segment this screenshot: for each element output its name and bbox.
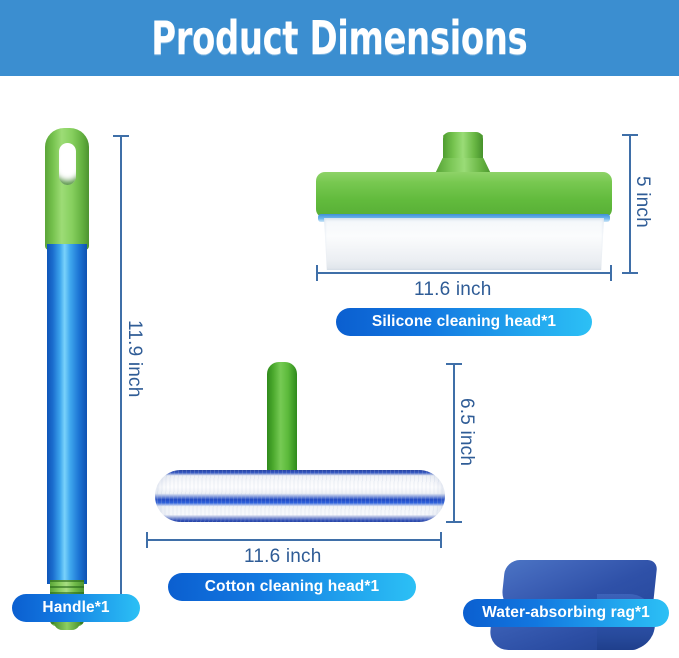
silicone-width-dimension-line [316, 272, 612, 274]
silicone-height-dimension-label: 5 inch [631, 176, 653, 228]
label-pill-silicone-cleaning-head: Silicone cleaning head*1 [336, 308, 592, 336]
handle-green-cap [45, 128, 89, 250]
handle-hanging-hole [59, 143, 76, 185]
label-pill-cotton-cleaning-head: Cotton cleaning head*1 [168, 573, 416, 601]
silicone-width-dimension-label: 11.6 inch [414, 279, 492, 301]
cotton-width-dimension-label: 11.6 inch [244, 546, 322, 568]
page-title: Product Dimensions [151, 15, 527, 61]
header-banner: Product Dimensions [0, 0, 679, 76]
label-pill-water-absorbing-rag: Water-absorbing rag*1 [463, 599, 669, 627]
product-handle-illustration [44, 128, 90, 628]
silicone-green-body [316, 172, 612, 218]
silicone-squeegee-blade [324, 218, 604, 270]
handle-blue-pole [47, 244, 87, 584]
cotton-green-stem [267, 362, 297, 478]
product-diagram-canvas: 11.9 inch Handle*1 5 inch 11.6 inch Sili… [0, 76, 679, 637]
cotton-pad-texture [155, 470, 445, 522]
cotton-height-dimension-label: 6.5 inch [455, 398, 477, 466]
cotton-width-dimension-line [146, 539, 442, 541]
handle-thread-end [54, 622, 80, 630]
handle-length-dimension-label: 11.9 inch [123, 320, 145, 398]
product-cotton-head-illustration [155, 362, 445, 526]
handle-length-dimension-line [120, 135, 122, 613]
label-pill-handle: Handle*1 [12, 594, 140, 622]
product-silicone-head-illustration [316, 132, 612, 272]
